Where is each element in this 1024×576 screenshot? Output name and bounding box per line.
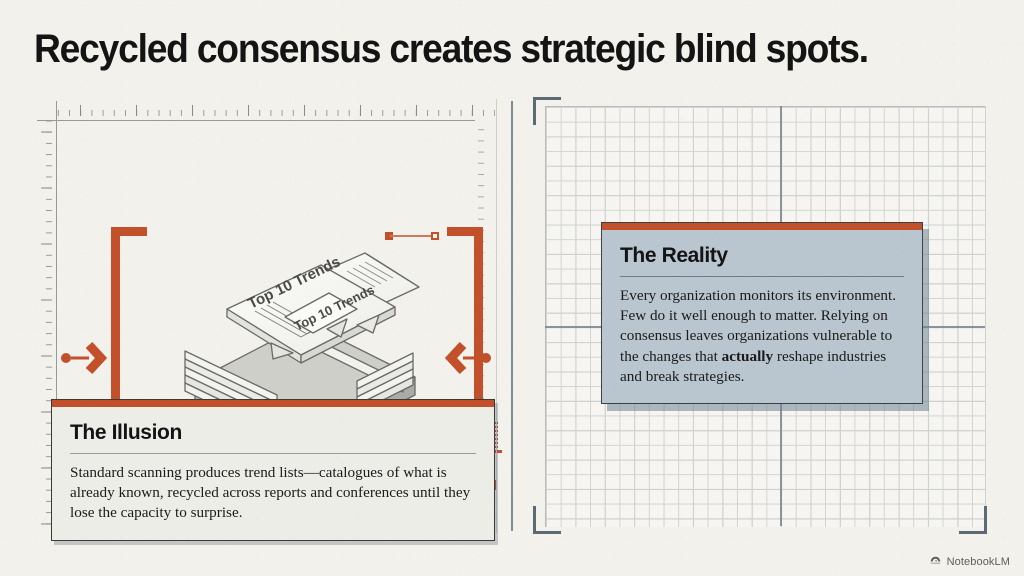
bracket-left-notch-icon [59, 341, 121, 375]
card-heading-reality: The Reality [620, 244, 904, 268]
card-accent-bar [52, 400, 494, 407]
corner-bracket-top-left [533, 97, 563, 127]
card-rule [70, 453, 476, 454]
panel-divider-faint [496, 99, 497, 533]
panel-divider [511, 101, 513, 531]
ruler-horizontal-axis [37, 120, 475, 121]
ruler-top-major-ticks [57, 102, 495, 116]
watermark-label: NotebookLM [947, 556, 1010, 568]
slide-canvas: Recycled consensus creates strategic bli… [0, 0, 1024, 576]
graph-edge-right [985, 106, 986, 526]
card-body-reality-emphasis: actually [722, 348, 773, 365]
card-body-reality: Every organization monitors its environm… [620, 286, 904, 387]
ruler-left-major-ticks [38, 121, 52, 534]
notebooklm-logo-icon [929, 555, 942, 568]
card-body-illusion: Standard scanning produces trend lists—c… [70, 463, 476, 524]
card-rule [620, 276, 904, 277]
page-title: Recycled consensus creates strategic bli… [34, 28, 927, 70]
measure-line-horizontal [385, 231, 439, 240]
corner-bracket-bottom-right [957, 504, 987, 534]
bracket-right-notch-icon [431, 341, 493, 375]
corner-bracket-bottom-left [533, 504, 563, 534]
card-heading-illusion: The Illusion [70, 421, 476, 445]
card-accent-bar [602, 223, 922, 230]
card-the-reality: The Reality Every organization monitors … [601, 222, 923, 404]
card-the-illusion: The Illusion Standard scanning produces … [51, 399, 495, 541]
notebooklm-watermark: NotebookLM [929, 555, 1010, 568]
